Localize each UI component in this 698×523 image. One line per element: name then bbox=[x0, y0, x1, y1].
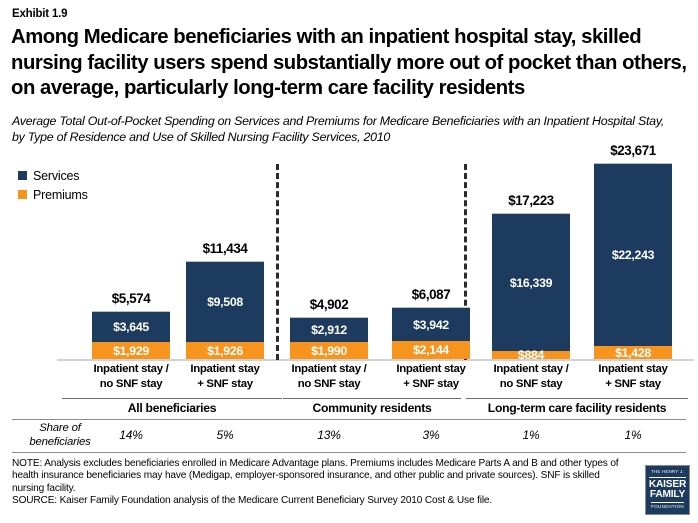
bar-segment-label-premiums-2: $1,990 bbox=[311, 344, 347, 358]
bar-segment-label-premiums-1: $1,926 bbox=[207, 344, 243, 358]
bar-total-label-1: $11,434 bbox=[186, 241, 264, 256]
page-title: Among Medicare beneficiaries with an inp… bbox=[11, 25, 687, 102]
category-label-5-line1: Inpatient stay bbox=[577, 362, 689, 377]
bar-total-label-5: $23,671 bbox=[594, 143, 672, 158]
bar-segment-label-services-4: $16,339 bbox=[510, 276, 552, 290]
category-label-4: Inpatient stay / no SNF stay bbox=[475, 362, 587, 391]
chart-subtitle: Average Total Out-of-Pocket Spending on … bbox=[12, 114, 672, 145]
share-value-4: 1% bbox=[475, 428, 587, 442]
group-label-0: All beneficiaries bbox=[62, 401, 282, 415]
bar-total-label-4: $17,223 bbox=[492, 193, 570, 208]
bar-segment-premiums-5: $1,428 bbox=[594, 346, 672, 359]
group-rule-2 bbox=[466, 398, 688, 399]
bar-segment-label-services-1: $9,508 bbox=[207, 295, 243, 309]
bar-segment-services-3: $3,942 bbox=[392, 307, 470, 341]
category-label-4-line2: no SNF stay bbox=[475, 377, 587, 392]
bar-segment-services-2: $2,912 bbox=[290, 317, 368, 342]
category-label-2-line1: Inpatient stay / bbox=[273, 362, 385, 377]
bar-segment-label-premiums-3: $2,144 bbox=[413, 343, 449, 357]
bar-stack-5: $23,671 $22,243 $1,428 bbox=[594, 163, 672, 359]
footer-source-text: SOURCE: Kaiser Family Foundation analysi… bbox=[12, 495, 630, 507]
category-label-3-line1: Inpatient stay bbox=[375, 362, 487, 377]
bar-segment-label-services-3: $3,942 bbox=[413, 318, 449, 332]
bar-total-label-0: $5,574 bbox=[92, 291, 170, 306]
footer-note-text: NOTE: Analysis excludes beneficiaries en… bbox=[12, 458, 630, 495]
footer-notes: NOTE: Analysis excludes beneficiaries en… bbox=[12, 458, 630, 507]
share-value-2: 13% bbox=[273, 428, 385, 442]
group-rule-0 bbox=[62, 398, 282, 399]
group-label-2: Long-term care facility residents bbox=[466, 401, 688, 415]
bar-stack-4: $17,223 $16,339 $884 bbox=[492, 213, 570, 359]
share-value-1: 5% bbox=[169, 428, 281, 442]
category-label-1-line1: Inpatient stay bbox=[169, 362, 281, 377]
category-label-1-line2: + SNF stay bbox=[169, 377, 281, 392]
category-label-3: Inpatient stay + SNF stay bbox=[375, 362, 487, 391]
bar-segment-premiums-4: $884 bbox=[492, 351, 570, 359]
bar-stack-2: $4,902 $2,912 $1,990 bbox=[290, 317, 368, 359]
kaiser-family-foundation-logo: THE HENRY J. KAISER FAMILY FOUNDATION bbox=[645, 465, 690, 515]
share-row-top-rule bbox=[12, 419, 686, 420]
bar-segment-services-5: $22,243 bbox=[594, 163, 672, 346]
bar-segment-services-1: $9,508 bbox=[186, 261, 264, 342]
group-divider-1 bbox=[276, 164, 279, 360]
bar-stack-1: $11,434 $9,508 $1,926 bbox=[186, 261, 264, 359]
x-axis-line bbox=[57, 359, 694, 361]
category-label-5: Inpatient stay + SNF stay bbox=[577, 362, 689, 391]
bar-segment-label-premiums-5: $1,428 bbox=[615, 346, 651, 360]
exhibit-number: Exhibit 1.9 bbox=[12, 8, 67, 20]
bar-segment-premiums-2: $1,990 bbox=[290, 342, 368, 359]
share-row-bottom-rule bbox=[12, 452, 686, 453]
category-label-3-line2: + SNF stay bbox=[375, 377, 487, 392]
category-label-5-line2: + SNF stay bbox=[577, 377, 689, 392]
logo-line-4: FOUNDATION bbox=[651, 502, 684, 510]
bar-segment-services-0: $3,645 bbox=[92, 311, 170, 342]
bar-total-label-3: $6,087 bbox=[392, 287, 470, 302]
bar-segment-label-services-2: $2,912 bbox=[311, 323, 347, 337]
bar-segment-label-premiums-4: $884 bbox=[518, 348, 544, 362]
group-label-1: Community residents bbox=[283, 401, 461, 415]
category-label-1: Inpatient stay + SNF stay bbox=[169, 362, 281, 391]
bar-segment-premiums-1: $1,926 bbox=[186, 342, 264, 359]
bar-segment-premiums-0: $1,929 bbox=[92, 342, 170, 359]
share-value-3: 3% bbox=[375, 428, 487, 442]
bar-segment-premiums-3: $2,144 bbox=[392, 341, 470, 359]
bar-total-label-2: $4,902 bbox=[290, 297, 368, 312]
category-label-4-line1: Inpatient stay / bbox=[475, 362, 587, 377]
bar-segment-label-premiums-0: $1,929 bbox=[113, 344, 149, 358]
bar-stack-3: $6,087 $3,942 $2,144 bbox=[392, 307, 470, 359]
bar-segment-label-services-0: $3,645 bbox=[113, 320, 149, 334]
logo-line-2: KAISER bbox=[649, 477, 686, 490]
logo-line-1: THE HENRY J. bbox=[651, 470, 684, 474]
bar-segment-services-4: $16,339 bbox=[492, 213, 570, 351]
category-label-2-line2: no SNF stay bbox=[273, 377, 385, 392]
category-label-2: Inpatient stay / no SNF stay bbox=[273, 362, 385, 391]
logo-line-3: FAMILY bbox=[650, 490, 685, 500]
bar-stack-0: $5,574 $3,645 $1,929 bbox=[92, 311, 170, 359]
group-rule-1 bbox=[283, 398, 461, 399]
share-value-5: 1% bbox=[577, 428, 689, 442]
bar-segment-label-services-5: $22,243 bbox=[612, 248, 654, 262]
chart-plot-area: $5,574 $3,645 $1,929 $11,434 $9,508 $1,9… bbox=[0, 160, 698, 360]
